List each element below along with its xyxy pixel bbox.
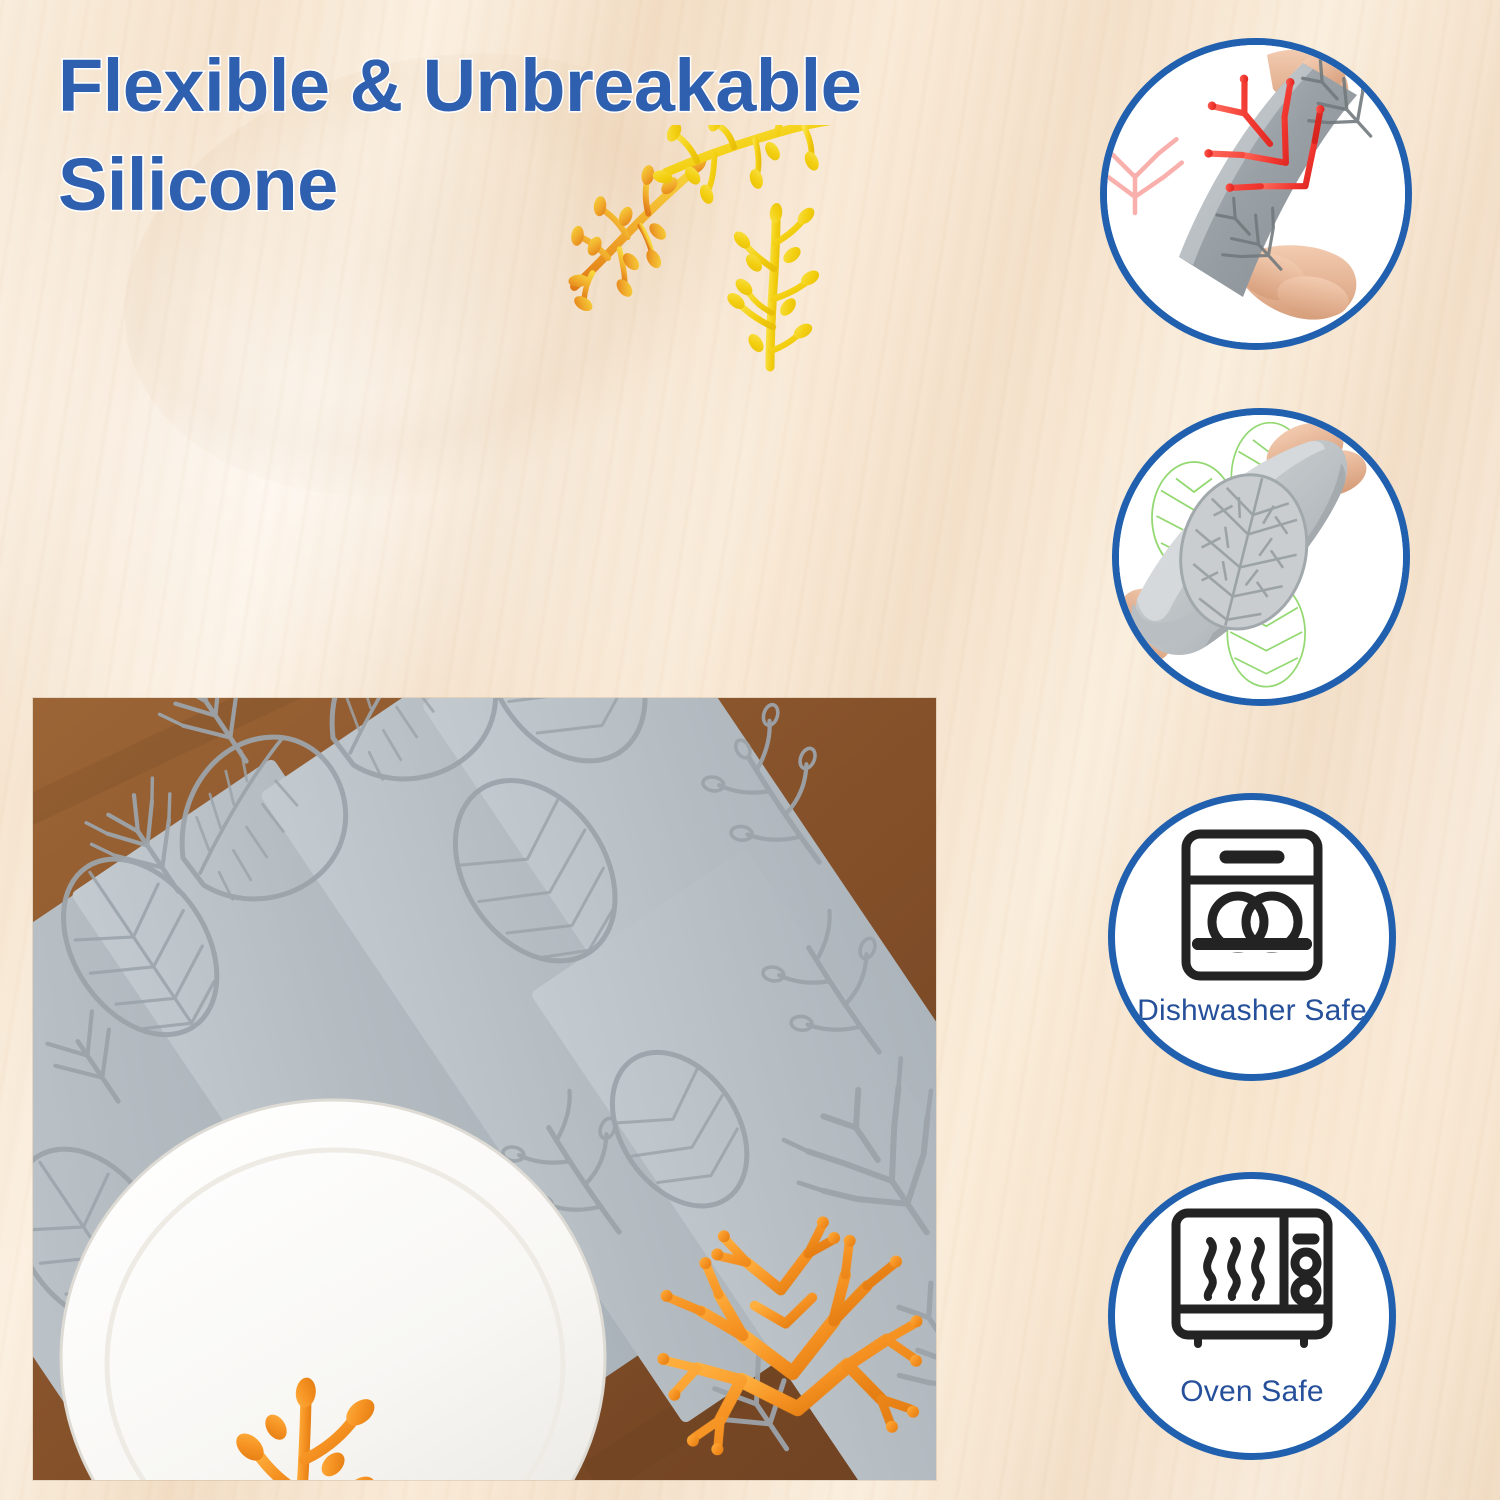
microwave-oven-icon — [1115, 1205, 1389, 1355]
feature-bubble-twist-photo — [1112, 408, 1410, 706]
page-title: Flexible & Unbreakable Silicone — [58, 36, 1058, 234]
oven-safe-label: Oven Safe — [1115, 1375, 1389, 1409]
dishwasher-safe-label: Dishwasher Safe — [1115, 994, 1389, 1028]
headline-line-1: Flexible & Unbreakable — [58, 36, 1058, 135]
main-product-photo — [33, 698, 936, 1480]
dishwasher-icon — [1115, 826, 1389, 984]
headline-line-2: Silicone — [58, 135, 1058, 234]
feature-bubble-oven-safe: Oven Safe — [1108, 1172, 1396, 1460]
feature-bubble-bend-photo — [1100, 38, 1412, 350]
feature-bubble-dishwasher-safe: Dishwasher Safe — [1108, 793, 1396, 1081]
